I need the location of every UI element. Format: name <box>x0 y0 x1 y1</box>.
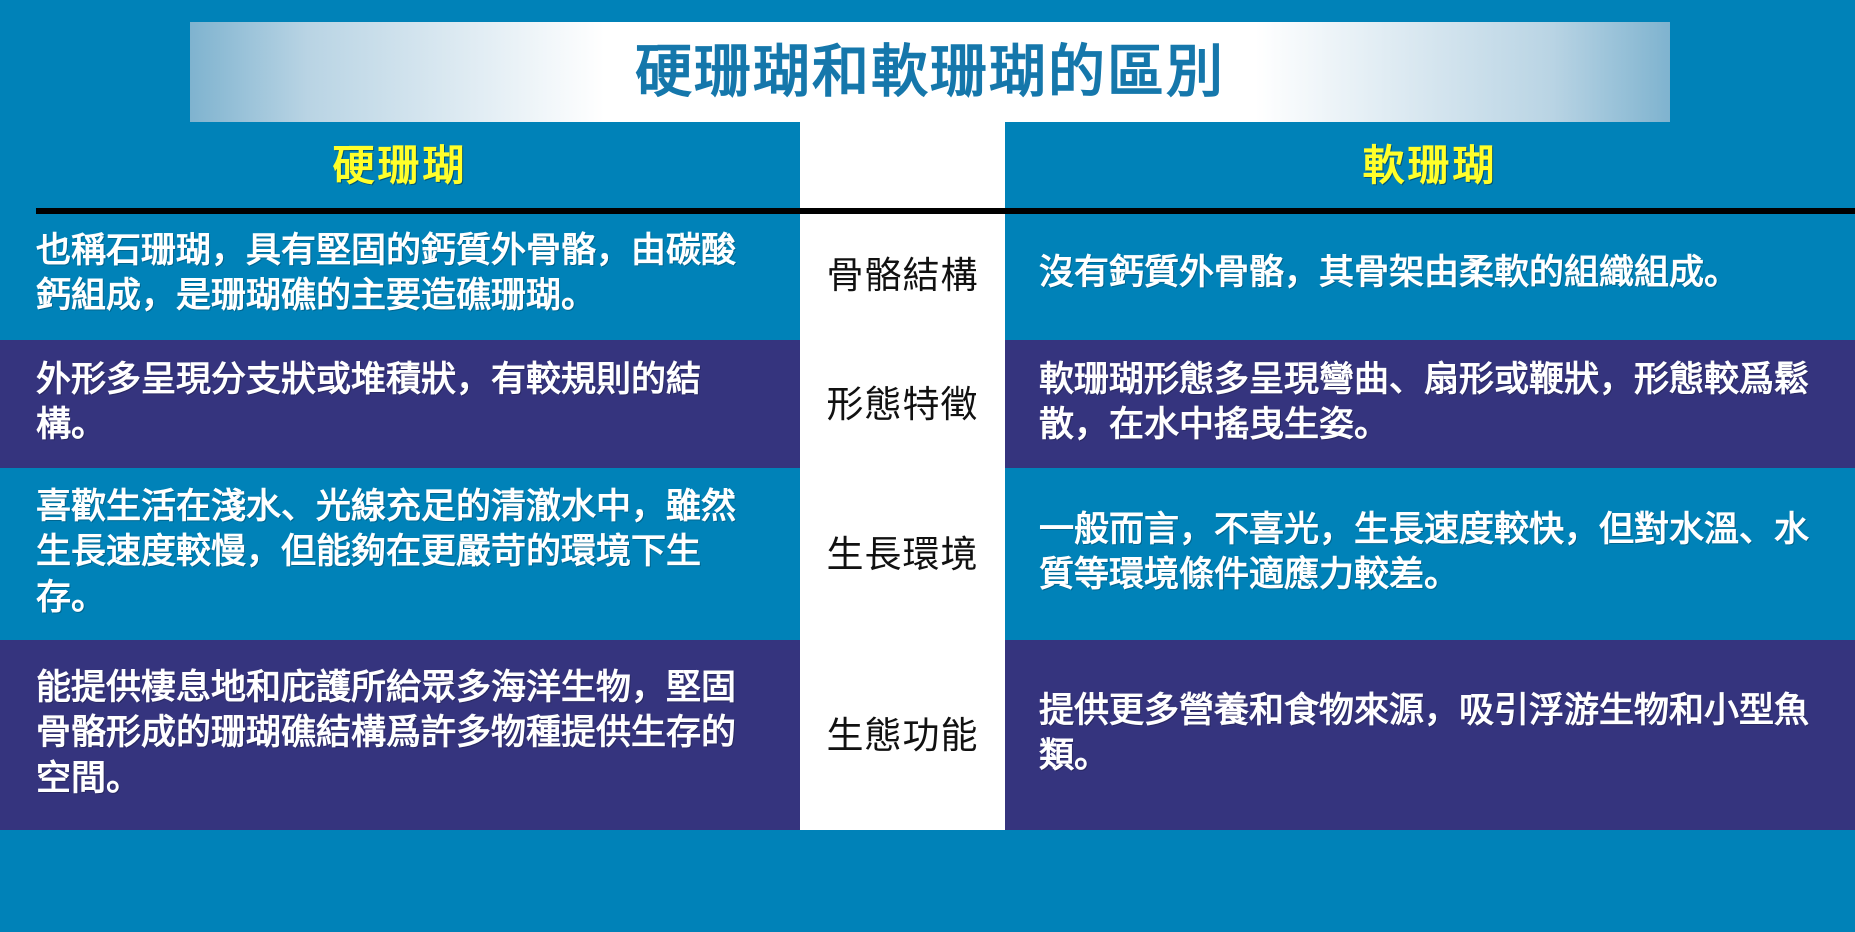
hard-coral-cell-2: 外形多呈現分支狀或堆積狀，有較規則的結構。 <box>36 357 770 448</box>
soft-coral-cell-1: 沒有鈣質外骨骼，其骨架由柔軟的組織組成。 <box>1039 250 1739 296</box>
header-middle-white-block <box>800 122 1005 208</box>
soft-coral-cell-2: 軟珊瑚形態多呈現彎曲、扇形或鞭狀，形態較爲鬆散，在水中搖曳生姿。 <box>1039 357 1825 448</box>
hard-coral-cell-4: 能提供棲息地和庇護所給眾多海洋生物，堅固骨骼形成的珊瑚礁結構爲許多物種提供生存的… <box>36 665 770 802</box>
table-row: 提供更多營養和食物來源，吸引浮游生物和小型魚類。 <box>1005 640 1855 830</box>
attribute-label-1: 骨骼結構 <box>827 257 979 294</box>
attribute-label-3: 生長環境 <box>827 536 979 573</box>
table-row: 軟珊瑚形態多呈現彎曲、扇形或鞭狀，形態較爲鬆散，在水中搖曳生姿。 <box>1005 340 1855 468</box>
attribute-label-2: 形態特徵 <box>827 386 979 423</box>
attribute-cell-2: 形態特徵 <box>800 340 1005 468</box>
attribute-cell-4: 生態功能 <box>800 640 1005 830</box>
column-header-hard-coral-label: 硬珊瑚 <box>332 145 467 187</box>
attribute-label-4: 生態功能 <box>827 717 979 754</box>
table-row: 一般而言，不喜光，生長速度較快，但對水溫、水質等環境條件適應力較差。 <box>1005 468 1855 640</box>
table-row: 外形多呈現分支狀或堆積狀，有較規則的結構。 <box>0 340 800 468</box>
table-row: 能提供棲息地和庇護所給眾多海洋生物，堅固骨骼形成的珊瑚礁結構爲許多物種提供生存的… <box>0 640 800 830</box>
hard-coral-cell-1: 也稱石珊瑚，具有堅固的鈣質外骨骼，由碳酸鈣組成，是珊瑚礁的主要造礁珊瑚。 <box>36 228 770 319</box>
soft-coral-cell-4: 提供更多營養和食物來源，吸引浮游生物和小型魚類。 <box>1039 688 1825 779</box>
column-header-hard-coral: 硬珊瑚 <box>0 122 800 210</box>
comparison-slide: 硬珊瑚和軟珊瑚的區別 硬珊瑚 軟珊瑚 也稱石珊瑚，具有堅固的鈣質外骨骼，由碳酸鈣… <box>0 0 1855 932</box>
table-row: 沒有鈣質外骨骼，其骨架由柔軟的組織組成。 <box>1005 210 1855 340</box>
attribute-cell-1: 骨骼結構 <box>800 210 1005 340</box>
comparison-table: 硬珊瑚 軟珊瑚 也稱石珊瑚，具有堅固的鈣質外骨骼，由碳酸鈣組成，是珊瑚礁的主要造… <box>0 122 1855 932</box>
column-header-soft-coral: 軟珊瑚 <box>1005 122 1855 210</box>
hard-coral-cell-3: 喜歡生活在淺水、光線充足的清澈水中，雖然生長速度較慢，但能夠在更嚴苛的環境下生存… <box>36 484 770 621</box>
table-row: 也稱石珊瑚，具有堅固的鈣質外骨骼，由碳酸鈣組成，是珊瑚礁的主要造礁珊瑚。 <box>0 210 800 340</box>
page-title: 硬珊瑚和軟珊瑚的區別 <box>635 44 1225 101</box>
soft-coral-cell-3: 一般而言，不喜光，生長速度較快，但對水溫、水質等環境條件適應力較差。 <box>1039 507 1825 598</box>
table-row: 喜歡生活在淺水、光線充足的清澈水中，雖然生長速度較慢，但能夠在更嚴苛的環境下生存… <box>0 468 800 640</box>
comparison-grid: 硬珊瑚 軟珊瑚 也稱石珊瑚，具有堅固的鈣質外骨骼，由碳酸鈣組成，是珊瑚礁的主要造… <box>0 122 1855 830</box>
footer-strip <box>0 910 1855 932</box>
column-header-soft-coral-label: 軟珊瑚 <box>1362 145 1497 187</box>
title-banner: 硬珊瑚和軟珊瑚的區別 <box>190 22 1670 122</box>
header-divider-rule <box>36 208 1855 214</box>
attribute-cell-3: 生長環境 <box>800 468 1005 640</box>
